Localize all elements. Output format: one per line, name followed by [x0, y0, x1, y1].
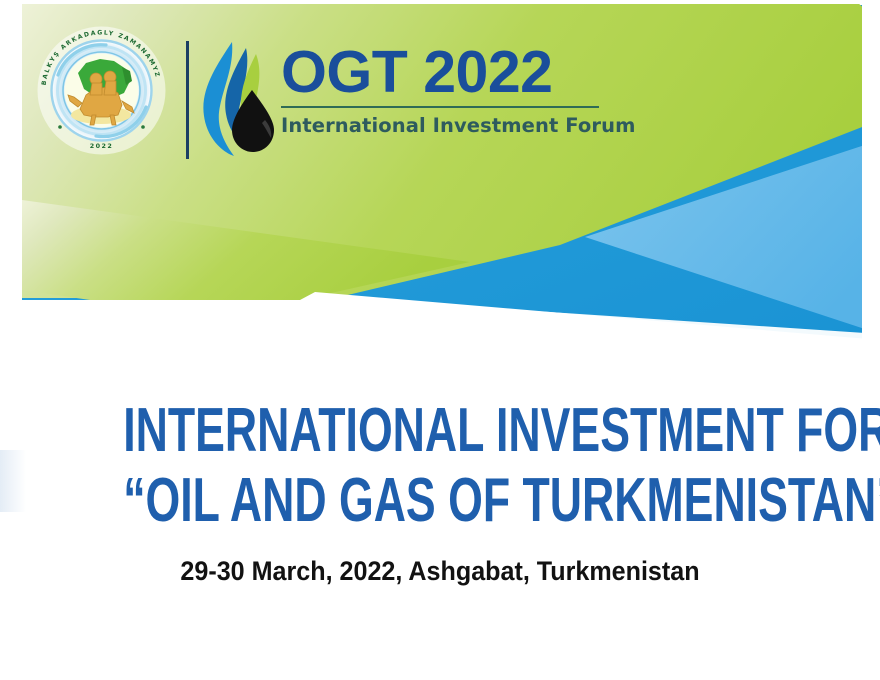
- bottom-white-margin: [0, 340, 880, 362]
- ogt-underline-rule: [281, 106, 599, 108]
- state-emblem: BALKYŞ ARKADAGLY ZAMANAMYZ 2022: [34, 23, 169, 158]
- emblem-dot-right: [141, 125, 145, 129]
- right-white-margin: [862, 0, 880, 362]
- ogt-subtitle: International Investment Forum: [281, 114, 611, 137]
- emblem-dot-left: [58, 125, 62, 129]
- poster-main-text: INTERNATIONAL INVESTMENT FORUM “OIL AND …: [0, 400, 880, 587]
- headline-line-2: “OIL AND GAS OF TURKMENISTAN”: [123, 470, 757, 532]
- left-white-margin: [0, 0, 22, 362]
- ogt-logo-block: OGT 2022 International Investment Forum: [186, 36, 616, 161]
- event-poster: BALKYŞ ARKADAGLY ZAMANAMYZ 2022: [0, 0, 880, 680]
- state-emblem-graphic: BALKYŞ ARKADAGLY ZAMANAMYZ 2022: [34, 23, 169, 158]
- headline-line-1: INTERNATIONAL INVESTMENT FORUM: [123, 400, 757, 462]
- emblem-year-text: 2022: [90, 142, 113, 150]
- logo-divider-bar: [186, 41, 189, 159]
- ogt-title: OGT 2022: [281, 44, 611, 102]
- top-white-margin: [0, 0, 880, 4]
- ogt-text-group: OGT 2022 International Investment Forum: [281, 44, 611, 137]
- event-date-location: 29-30 March, 2022, Ashgabat, Turkmenista…: [31, 556, 849, 587]
- flame-droplet-icon: [198, 40, 280, 158]
- flame-droplet-graphic: [198, 40, 280, 158]
